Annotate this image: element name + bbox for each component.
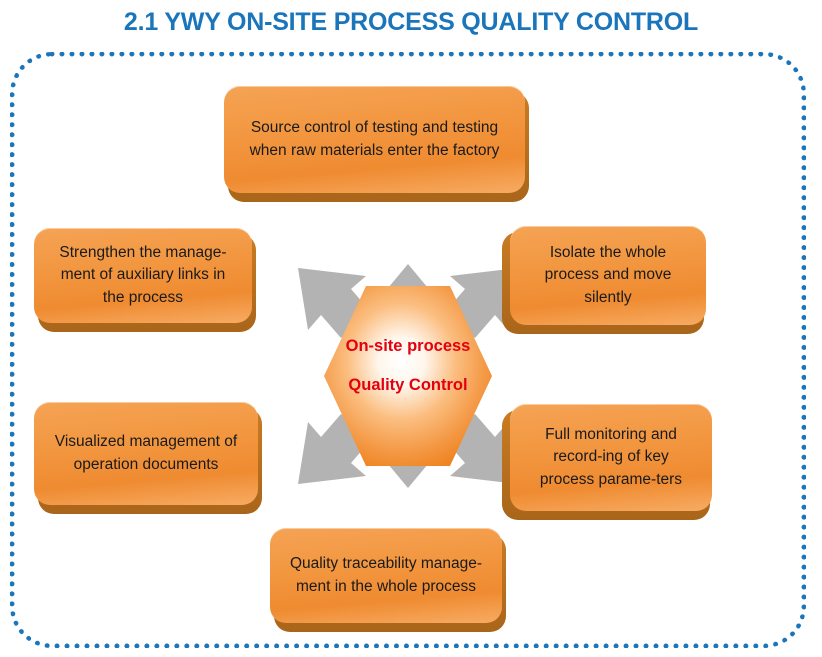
process-box-bottom[interactable]: Quality traceability manage-ment in the … [270, 528, 506, 632]
box-face: Isolate the whole process and move silen… [510, 226, 706, 325]
box-face: Quality traceability manage-ment in the … [270, 528, 502, 623]
diagram-page: 2.1 YWY ON-SITE PROCESS QUALITY CONTROL [0, 0, 822, 657]
box-face: Full monitoring and record-ing of key pr… [510, 404, 712, 511]
process-box-upper-right[interactable]: Isolate the whole process and move silen… [502, 226, 706, 334]
hub-hexagon [324, 286, 492, 466]
process-box-label: Quality traceability manage-ment in the … [284, 553, 488, 598]
process-box-label: Visualized management of operation docum… [48, 431, 244, 476]
process-box-label: Full monitoring and record-ing of key pr… [524, 424, 698, 491]
process-box-upper-left[interactable]: Strengthen the manage-ment of auxiliary … [34, 228, 256, 332]
process-box-label: Source control of testing and testing wh… [238, 117, 511, 162]
box-face: Source control of testing and testing wh… [224, 86, 525, 193]
process-box-label: Strengthen the manage-ment of auxiliary … [48, 242, 238, 309]
process-box-lower-right[interactable]: Full monitoring and record-ing of key pr… [502, 404, 712, 520]
box-face: Visualized management of operation docum… [34, 402, 258, 505]
box-face: Strengthen the manage-ment of auxiliary … [34, 228, 252, 323]
hub-center: On-site process Quality Control [302, 270, 514, 482]
process-box-lower-left[interactable]: Visualized management of operation docum… [34, 402, 262, 514]
process-box-top[interactable]: Source control of testing and testing wh… [224, 86, 529, 202]
process-box-label: Isolate the whole process and move silen… [524, 242, 692, 309]
page-title: 2.1 YWY ON-SITE PROCESS QUALITY CONTROL [0, 8, 822, 37]
